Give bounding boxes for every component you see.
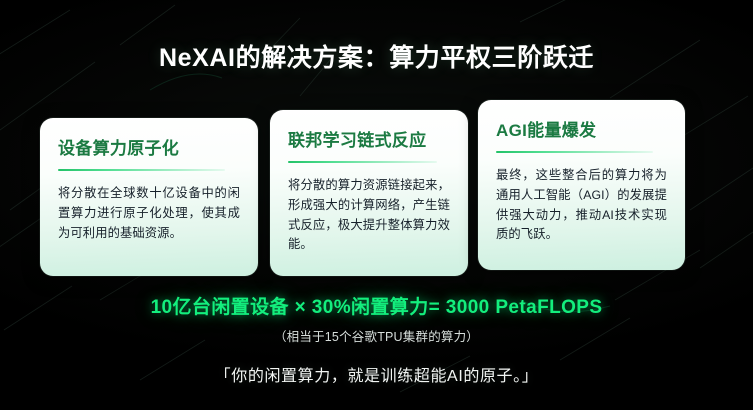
stage-card-1-body: 将分散在全球数十亿设备中的闲置算力进行原子化处理，使其成为可利用的基础资源。 [58, 184, 240, 244]
slide-root: NeXAI的解决方案：算力平权三阶跃迁 设备算力原子化 将分散在全球数十亿设备中… [0, 0, 753, 410]
stage-card-2-title: 联邦学习链式反应 [288, 132, 450, 151]
stage-card-1-title: 设备算力原子化 [58, 140, 240, 159]
stage-cards-container: 设备算力原子化 将分散在全球数十亿设备中的闲置算力进行原子化处理，使其成为可利用… [40, 96, 685, 281]
stage-card-3-divider [496, 151, 653, 153]
summary-formula: 10亿台闲置设备 × 30%闲置算力= 3000 PetaFLOPS [0, 292, 753, 319]
stage-card-2-body: 将分散的算力资源链接起来，形成强大的计算网络，产生链式反应，极大提升整体算力效能… [288, 176, 450, 256]
closing-quote: 「你的闲置算力，就是训练超能AI的原子。」 [0, 362, 753, 386]
stage-card-1-divider [58, 169, 225, 171]
stage-card-2-divider [288, 161, 437, 163]
stage-card-3-title: AGI能量爆发 [496, 122, 667, 141]
page-title: NeXAI的解决方案：算力平权三阶跃迁 [0, 38, 753, 74]
stage-card-3[interactable]: AGI能量爆发 最终，这些整合后的算力将为通用人工智能（AGI）的发展提供强大动… [478, 100, 685, 270]
stage-card-3-body: 最终，这些整合后的算力将为通用人工智能（AGI）的发展提供强大动力，推动AI技术… [496, 166, 667, 246]
stage-card-1[interactable]: 设备算力原子化 将分散在全球数十亿设备中的闲置算力进行原子化处理，使其成为可利用… [40, 118, 258, 276]
stage-card-2[interactable]: 联邦学习链式反应 将分散的算力资源链接起来，形成强大的计算网络，产生链式反应，极… [270, 110, 468, 276]
summary-formula-note: （相当于15个谷歌TPU集群的算力） [0, 326, 753, 345]
